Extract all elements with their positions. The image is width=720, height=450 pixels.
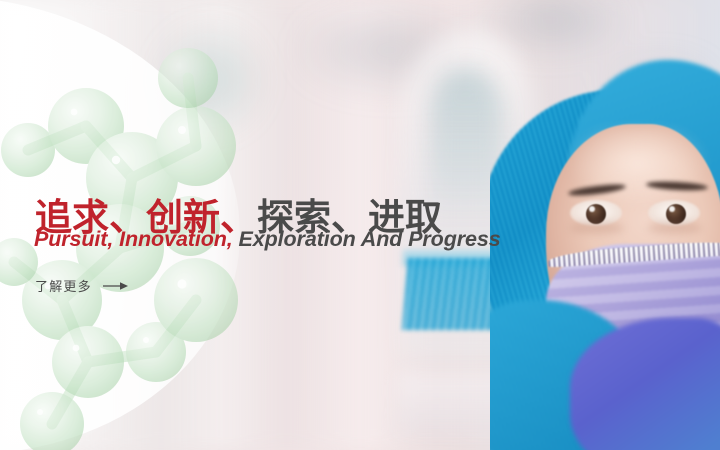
hero-content: 追求、创新、探索、进取 Pursuit, Innovation, Explora… [0, 0, 720, 450]
page-subtitle: Pursuit, Innovation, Exploration And Pro… [34, 229, 501, 251]
subtitle-accent: Pursuit, Innovation, [34, 227, 233, 251]
learn-more-link[interactable]: 了解更多 [35, 276, 129, 295]
arrow-right-icon [103, 281, 129, 291]
hero-banner: 追求、创新、探索、进取 Pursuit, Innovation, Explora… [0, 0, 720, 450]
subtitle-muted: Exploration And Progress [233, 227, 501, 251]
learn-more-label: 了解更多 [35, 276, 92, 295]
